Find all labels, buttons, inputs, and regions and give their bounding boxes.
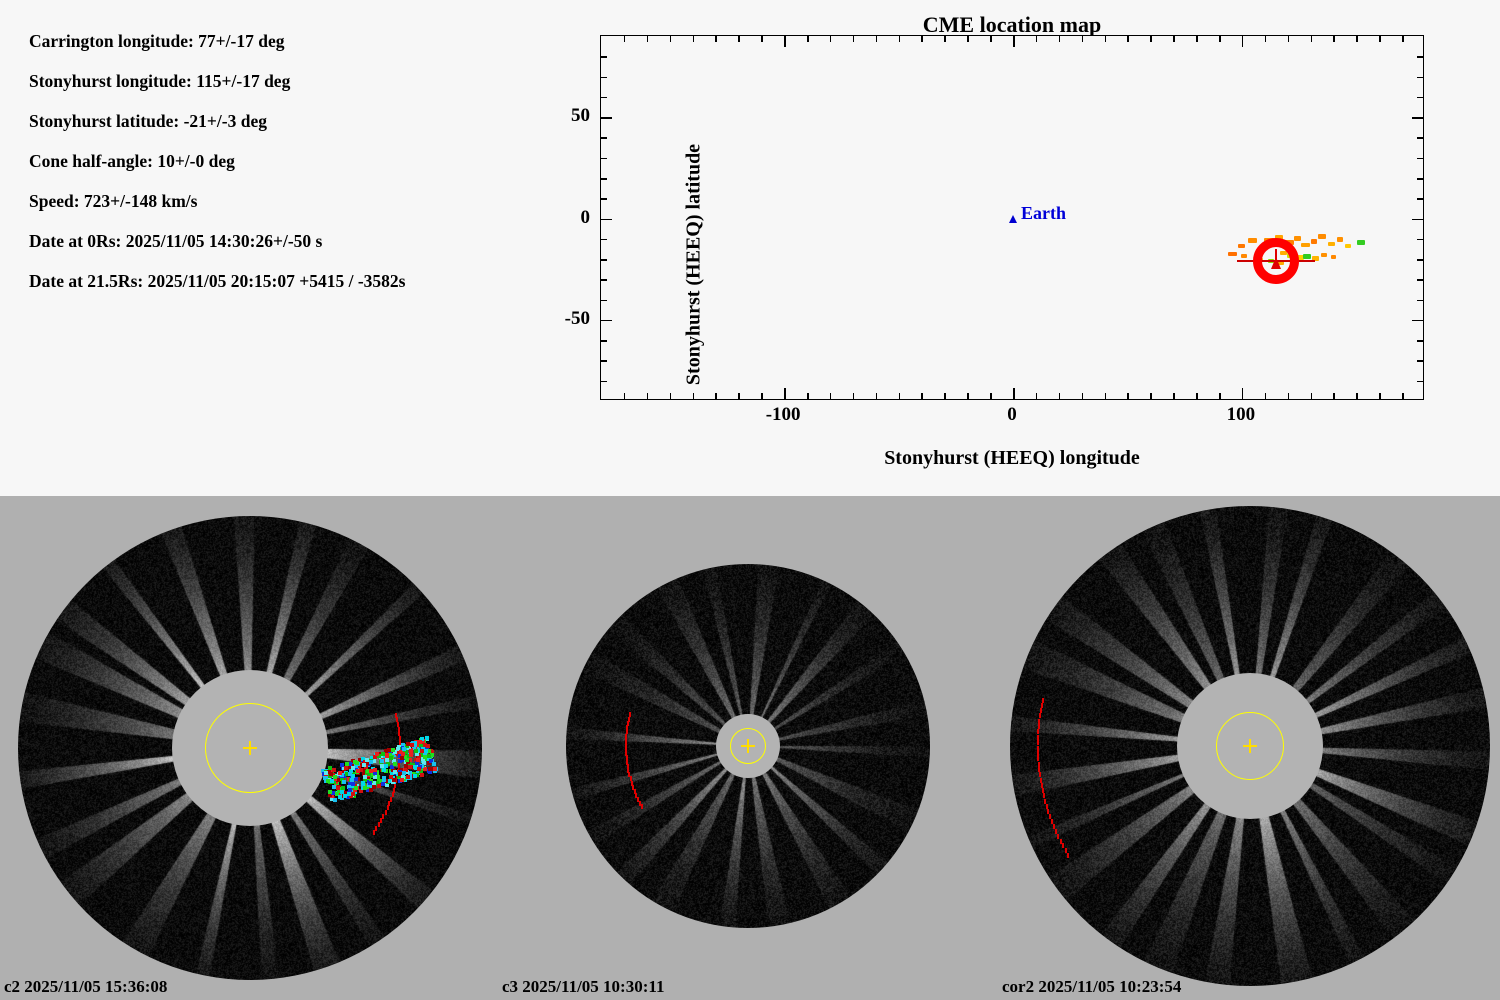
- earth-marker-icon: [1009, 215, 1017, 223]
- cme-front-marker: [380, 818, 382, 823]
- cme-detection-pixel: [382, 768, 386, 772]
- x-tick: [1196, 393, 1198, 399]
- x-tick: [876, 393, 878, 399]
- ensemble-fit-point: [1301, 243, 1310, 247]
- plot-frame: Earth Stonyhurst (HEEQ) latitude: [600, 35, 1424, 400]
- cme-front-marker: [387, 805, 389, 810]
- ensemble-fit-point: [1328, 242, 1335, 246]
- y-tick: [601, 97, 607, 99]
- y-tick: [601, 198, 607, 200]
- cme-front-marker: [1037, 756, 1039, 761]
- ensemble-fit-point: [1321, 253, 1327, 257]
- x-tick-label: -100: [766, 404, 801, 426]
- cme-front-marker: [1042, 698, 1044, 703]
- cme-detection-pixel: [354, 786, 358, 790]
- x-tick: [1127, 393, 1129, 399]
- x-tick: [1402, 393, 1404, 399]
- x-tick: [1242, 36, 1244, 47]
- cme-detection-pixel: [423, 743, 427, 747]
- ensemble-fit-point: [1248, 238, 1257, 243]
- x-tick: [1127, 36, 1129, 42]
- x-tick: [624, 393, 626, 399]
- x-axis-title: Stonyhurst (HEEQ) longitude: [600, 447, 1424, 470]
- cme-detection-pixel: [414, 749, 418, 753]
- x-tick: [899, 36, 901, 42]
- x-tick: [1059, 36, 1061, 42]
- cme-detection-pixel: [410, 743, 414, 747]
- cme-detection-pixel: [393, 770, 397, 774]
- cme-detection-pixel: [425, 736, 429, 740]
- x-tick: [1265, 393, 1267, 399]
- x-tick: [1356, 393, 1358, 399]
- x-tick: [761, 393, 763, 399]
- plot-inner-area: Earth: [601, 36, 1423, 399]
- y-tick: [601, 77, 607, 79]
- x-tick: [715, 36, 717, 42]
- ensemble-fit-point: [1303, 254, 1311, 259]
- cme-front-marker: [1041, 703, 1043, 708]
- cme-front-marker: [1037, 740, 1039, 745]
- x-tick: [715, 393, 717, 399]
- x-tick: [1311, 36, 1313, 42]
- x-tick: [1150, 36, 1152, 42]
- cme-front-marker: [1039, 772, 1041, 777]
- cme-detection-pixel: [415, 752, 419, 756]
- ensemble-fit-point: [1318, 234, 1326, 239]
- cme-detection-pixel: [428, 767, 432, 771]
- cme-detection-pixel: [391, 748, 395, 752]
- x-tick: [693, 36, 695, 42]
- cme-detection-pixel: [372, 785, 376, 789]
- cme-detection-pixel: [406, 775, 410, 779]
- x-tick: [1288, 36, 1290, 42]
- cme-apex-marker-icon: [1271, 257, 1281, 269]
- cme-detection-pixel: [380, 759, 384, 763]
- y-tick: [1417, 259, 1423, 261]
- cme-front-marker: [1037, 751, 1039, 756]
- x-tick: [1082, 393, 1084, 399]
- coronagraph-panel-c3[interactable]: [500, 496, 1000, 1000]
- cme-detection-pixel: [433, 767, 437, 771]
- y-tick: [1417, 178, 1423, 180]
- cme-detection-pixel: [328, 790, 332, 794]
- x-tick: [1105, 36, 1107, 42]
- cme-detection-pixel: [408, 765, 412, 769]
- x-tick: [624, 36, 626, 42]
- cme-detection-pixel: [400, 778, 404, 782]
- y-tick: [601, 117, 612, 119]
- x-tick: [807, 393, 809, 399]
- cme-detection-pixel: [402, 747, 406, 751]
- cme-detection-pixel: [393, 762, 397, 766]
- ensemble-fit-point: [1357, 240, 1365, 245]
- top-panel: Carrington longitude: 77+/-17 deg Stonyh…: [0, 0, 1500, 496]
- y-tick: [601, 381, 607, 383]
- x-tick: [1036, 393, 1038, 399]
- y-tick: [1412, 219, 1423, 221]
- x-tick: [647, 36, 649, 42]
- cme-detection-pixel: [418, 740, 422, 744]
- cme-front-marker: [641, 804, 643, 809]
- x-tick: [921, 36, 923, 42]
- x-tick: [1196, 36, 1198, 42]
- cme-front-marker: [1037, 729, 1039, 734]
- cme-detection-pixel: [405, 758, 409, 762]
- x-tick: [738, 36, 740, 42]
- cme-detection-pixel: [413, 774, 417, 778]
- x-tick: [784, 36, 786, 47]
- x-tick: [830, 36, 832, 42]
- x-tick: [807, 36, 809, 42]
- x-tick: [1150, 393, 1152, 399]
- x-tick: [990, 393, 992, 399]
- y-tick: [1417, 77, 1423, 79]
- cme-detection-pixel: [342, 780, 346, 784]
- coronagraph-panel-c2[interactable]: [0, 496, 500, 1000]
- y-tick: [1412, 320, 1423, 322]
- cme-detection-pixel: [375, 752, 379, 756]
- cme-front-marker: [1038, 767, 1040, 772]
- cme-detection-pixel: [324, 771, 328, 775]
- y-tick: [601, 158, 607, 160]
- y-tick-label: 0: [535, 207, 590, 229]
- cme-detection-pixel: [338, 771, 342, 775]
- cme-detection-pixel: [416, 758, 420, 762]
- y-tick: [601, 219, 612, 221]
- x-tick-label: 100: [1227, 404, 1256, 426]
- x-tick: [761, 36, 763, 42]
- cme-detection-pixel: [348, 772, 352, 776]
- ensemble-fit-point: [1294, 236, 1301, 241]
- x-tick: [830, 393, 832, 399]
- y-tick: [1412, 117, 1423, 119]
- cme-detection-pixel: [361, 781, 365, 785]
- y-tick: [1417, 198, 1423, 200]
- y-tick: [1417, 340, 1423, 342]
- y-tick: [601, 137, 607, 139]
- x-tick: [1013, 36, 1015, 47]
- cme-detection-pixel: [336, 786, 340, 790]
- y-tick: [601, 178, 607, 180]
- cme-detection-pixel: [356, 769, 360, 773]
- cme-detection-pixel: [402, 771, 406, 775]
- y-tick: [1417, 279, 1423, 281]
- y-tick: [1417, 158, 1423, 160]
- cme-detection-pixel: [409, 749, 413, 753]
- x-tick: [967, 36, 969, 42]
- cme-detection-pixel: [417, 767, 421, 771]
- y-tick-label: 50: [535, 105, 590, 127]
- cme-detection-pixel: [420, 773, 424, 777]
- x-tick: [1036, 36, 1038, 42]
- x-tick: [670, 393, 672, 399]
- cme-front-marker: [1041, 783, 1043, 788]
- x-tick: [990, 36, 992, 42]
- ensemble-fit-point: [1311, 239, 1317, 244]
- cme-detection-pixel: [365, 758, 369, 762]
- x-tick: [647, 393, 649, 399]
- cme-detection-pixel: [338, 795, 342, 799]
- cme-front-marker: [1038, 724, 1040, 729]
- y-tick: [1417, 239, 1423, 241]
- cme-detection-pixel: [347, 792, 351, 796]
- cme-detection-pixel: [348, 788, 352, 792]
- x-tick: [876, 36, 878, 42]
- cme-detection-pixel: [400, 756, 404, 760]
- ensemble-fit-point: [1337, 237, 1343, 242]
- y-tick: [1417, 381, 1423, 383]
- y-tick: [601, 340, 607, 342]
- cme-detection-pixel: [389, 775, 393, 779]
- y-tick: [601, 320, 612, 322]
- cme-detection-pixel: [330, 779, 334, 783]
- y-tick: [601, 300, 607, 302]
- y-axis-title: Stonyhurst (HEEQ) latitude: [683, 115, 706, 415]
- x-tick: [784, 388, 786, 399]
- cme-detection-pixel: [345, 762, 349, 766]
- ensemble-fit-point: [1241, 254, 1247, 258]
- cme-detection-pixel: [363, 786, 367, 790]
- cme-detection-pixel: [409, 753, 413, 757]
- cme-front-marker: [373, 830, 375, 835]
- ensemble-fit-point: [1228, 252, 1237, 256]
- x-tick: [1173, 36, 1175, 42]
- cme-detection-pixel: [413, 765, 417, 769]
- cme-detection-pixel: [341, 786, 345, 790]
- x-tick: [1219, 36, 1221, 42]
- x-tick: [1242, 388, 1244, 399]
- x-tick: [1402, 36, 1404, 42]
- cme-detection-pixel: [432, 762, 436, 766]
- x-tick: [1288, 393, 1290, 399]
- y-tick: [601, 360, 607, 362]
- y-tick: [1417, 97, 1423, 99]
- cme-front-marker: [385, 810, 387, 815]
- x-tick: [853, 36, 855, 42]
- y-tick-label: -50: [535, 308, 590, 330]
- cme-detection-pixel: [368, 781, 372, 785]
- ensemble-fit-point: [1331, 255, 1336, 259]
- x-tick: [853, 393, 855, 399]
- ensemble-fit-point: [1345, 244, 1351, 248]
- x-tick: [944, 36, 946, 42]
- cme-detection-pixel: [340, 763, 344, 767]
- sun-center-crosshair: [1249, 739, 1251, 753]
- cme-detection-pixel: [369, 760, 373, 764]
- cme-detection-pixel: [382, 778, 386, 782]
- x-tick: [1333, 36, 1335, 42]
- cme-front-marker: [388, 801, 390, 806]
- cme-location-map: CME location map Earth Stonyhurst (HEEQ)…: [0, 0, 1500, 496]
- cme-detection-pixel: [381, 752, 385, 756]
- x-tick: [1173, 393, 1175, 399]
- coronagraph-panel-cor2[interactable]: [1000, 496, 1500, 1000]
- x-tick: [670, 36, 672, 42]
- cme-front-marker: [1040, 778, 1042, 783]
- cme-detection-pixel: [420, 749, 424, 753]
- cme-front-marker: [1038, 762, 1040, 767]
- panel-label-c3: c3 2025/11/05 10:30:11: [502, 977, 664, 997]
- x-tick: [1082, 36, 1084, 42]
- cme-front-marker: [1039, 713, 1041, 718]
- x-tick: [1311, 393, 1313, 399]
- ensemble-fit-point: [1238, 244, 1245, 248]
- x-tick: [738, 393, 740, 399]
- cme-front-marker: [378, 822, 380, 827]
- y-tick: [601, 56, 607, 58]
- x-tick: [1379, 36, 1381, 42]
- y-tick: [1417, 56, 1423, 58]
- cme-detection-pixel: [362, 763, 366, 767]
- y-tick: [1417, 137, 1423, 139]
- cme-front-marker: [1037, 735, 1039, 740]
- panel-label-cor2: cor2 2025/11/05 10:23:54: [1002, 977, 1181, 997]
- x-tick: [1059, 393, 1061, 399]
- cme-detection-pixel: [373, 768, 377, 772]
- x-tick: [1013, 388, 1015, 399]
- y-tick: [1417, 300, 1423, 302]
- y-tick: [1417, 360, 1423, 362]
- cme-detection-pixel: [355, 761, 359, 765]
- earth-label: Earth: [1021, 203, 1066, 224]
- cme-front-marker: [1040, 708, 1042, 713]
- x-tick: [1105, 393, 1107, 399]
- panel-label-c2: c2 2025/11/05 15:36:08: [4, 977, 167, 997]
- cme-front-marker: [1067, 853, 1069, 858]
- x-tick: [1265, 36, 1267, 42]
- cme-detection-pixel: [424, 749, 428, 753]
- cme-detection-pixel: [332, 785, 336, 789]
- cme-detection-pixel: [389, 756, 393, 760]
- x-tick: [921, 393, 923, 399]
- x-tick: [967, 393, 969, 399]
- cme-detection-pixel: [381, 782, 385, 786]
- x-tick: [1356, 36, 1358, 42]
- cme-front-marker: [1037, 746, 1039, 751]
- y-tick: [601, 239, 607, 241]
- cme-detection-pixel: [384, 764, 388, 768]
- coronagraph-image-strip: c2 2025/11/05 15:36:08 c3 2025/11/05 10:…: [0, 496, 1500, 1000]
- x-tick: [1379, 393, 1381, 399]
- y-tick: [601, 279, 607, 281]
- cme-front-marker: [1065, 848, 1067, 853]
- sun-center-crosshair: [249, 741, 251, 755]
- cme-front-marker: [382, 814, 384, 819]
- x-tick: [1219, 393, 1221, 399]
- cme-detection-pixel: [329, 772, 333, 776]
- x-tick-label: 0: [1007, 404, 1017, 426]
- y-tick: [601, 259, 607, 261]
- cme-front-marker: [1038, 719, 1040, 724]
- x-tick: [1333, 393, 1335, 399]
- cme-detection-pixel: [427, 754, 431, 758]
- cme-front-marker: [375, 826, 377, 831]
- x-tick: [944, 393, 946, 399]
- x-tick: [899, 393, 901, 399]
- sun-center-crosshair: [747, 739, 749, 753]
